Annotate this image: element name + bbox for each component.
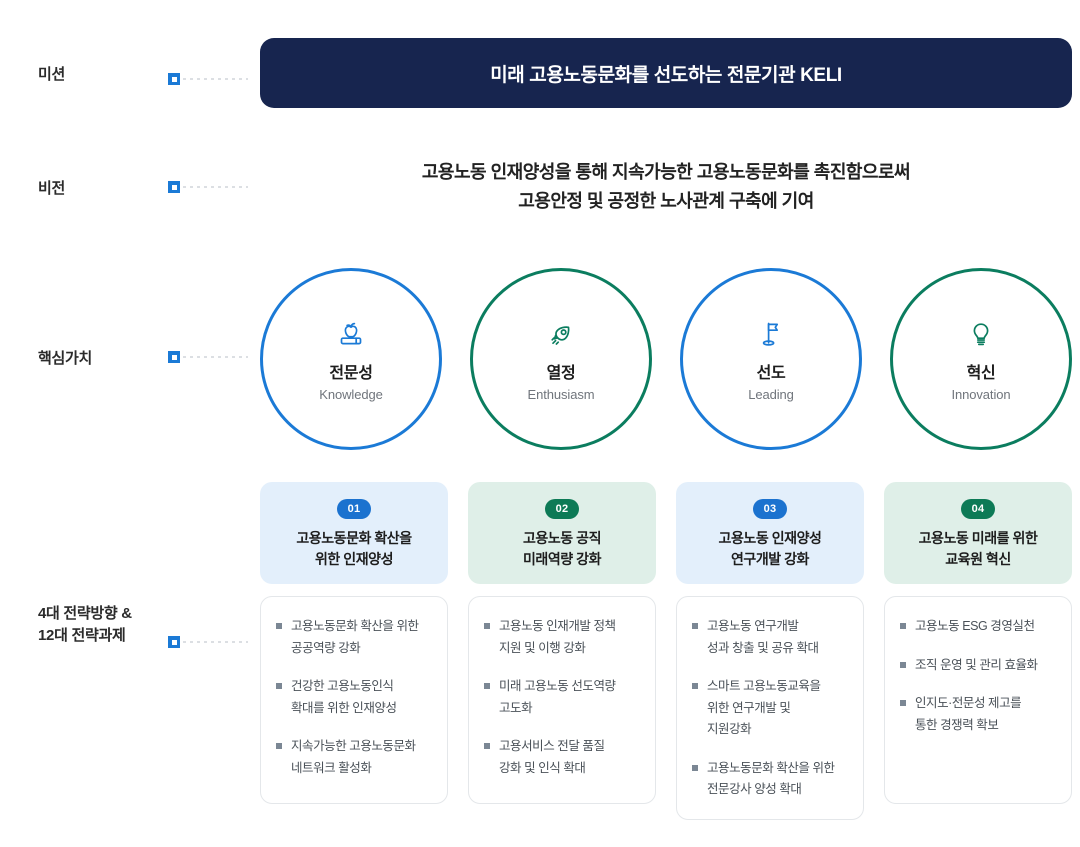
core-value-title-en: Leading bbox=[748, 387, 794, 402]
task-text: 고용노동문화 확산을 위한 공공역량 강화 bbox=[291, 616, 419, 659]
strategy-badge-02: 02 bbox=[545, 499, 579, 519]
bullet-icon bbox=[692, 623, 698, 629]
core-value-leading: 선도 Leading bbox=[680, 268, 862, 450]
strategy-tasks-02: 고용노동 인재개발 정책 지원 및 이행 강화 미래 고용노동 선도역량 고도화… bbox=[468, 596, 656, 804]
square-marker-icon bbox=[168, 181, 180, 193]
rail-label-mission: 미션 bbox=[38, 64, 65, 86]
task-text: 미래 고용노동 선도역량 고도화 bbox=[499, 676, 616, 719]
strategy-title-04: 고용노동 미래를 위한 교육원 혁신 bbox=[919, 528, 1038, 570]
dotted-line bbox=[183, 186, 248, 188]
dotted-line bbox=[183, 78, 248, 80]
rocket-icon bbox=[546, 316, 576, 350]
bullet-icon bbox=[692, 683, 698, 689]
strategy-title-01: 고용노동문화 확산을 위한 인재양성 bbox=[296, 528, 411, 570]
bullet-icon bbox=[484, 683, 490, 689]
connector-vision bbox=[168, 181, 248, 193]
vision-text: 고용노동 인재양성을 통해 지속가능한 고용노동문화를 촉진함으로써 고용안정 … bbox=[260, 158, 1072, 216]
strategy-column-01: 01 고용노동문화 확산을 위한 인재양성 고용노동문화 확산을 위한 공공역량… bbox=[260, 482, 448, 820]
bullet-icon bbox=[900, 662, 906, 668]
strategy-header-04[interactable]: 04 고용노동 미래를 위한 교육원 혁신 bbox=[884, 482, 1072, 584]
strategy-map: 미션 비전 핵심가치 4대 전략방향 & 12대 전략과제 미래 고용노동문화를… bbox=[0, 0, 1080, 847]
core-values-row: 전문성 Knowledge 열정 Enthusiasm bbox=[260, 268, 1072, 450]
mission-text: 미래 고용노동문화를 선도하는 전문기관 KELI bbox=[490, 60, 842, 87]
core-value-title-ko: 혁신 bbox=[967, 359, 996, 383]
core-value-enthusiasm: 열정 Enthusiasm bbox=[470, 268, 652, 450]
rail-label-strategies: 4대 전략방향 & 12대 전략과제 bbox=[38, 603, 132, 647]
task-text: 조직 운영 및 관리 효율화 bbox=[915, 655, 1038, 677]
strategy-badge-04: 04 bbox=[961, 499, 995, 519]
strategy-header-02[interactable]: 02 고용노동 공직 미래역량 강화 bbox=[468, 482, 656, 584]
task-item: 고용서비스 전달 품질 강화 및 인식 확대 bbox=[484, 736, 639, 779]
square-marker-icon bbox=[168, 351, 180, 363]
task-text: 고용서비스 전달 품질 강화 및 인식 확대 bbox=[499, 736, 605, 779]
strategy-tasks-01: 고용노동문화 확산을 위한 공공역량 강화 건강한 고용노동인식 확대를 위한 … bbox=[260, 596, 448, 804]
core-value-title-ko: 전문성 bbox=[329, 359, 372, 383]
strategy-tasks-04: 고용노동 ESG 경영실천 조직 운영 및 관리 효율화 인지도·전문성 제고를… bbox=[884, 596, 1072, 804]
core-value-title-ko: 선도 bbox=[757, 359, 786, 383]
task-item: 고용노동 ESG 경영실천 bbox=[900, 616, 1055, 638]
task-text: 고용노동 인재개발 정책 지원 및 이행 강화 bbox=[499, 616, 616, 659]
task-item: 고용노동 연구개발 성과 창출 및 공유 확대 bbox=[692, 616, 847, 659]
strategy-badge-03: 03 bbox=[753, 499, 787, 519]
task-text: 스마트 고용노동교육을 위한 연구개발 및 지원강화 bbox=[707, 676, 821, 741]
mission-banner: 미래 고용노동문화를 선도하는 전문기관 KELI bbox=[260, 38, 1072, 108]
task-item: 지속가능한 고용노동문화 네트워크 활성화 bbox=[276, 736, 431, 779]
task-text: 지속가능한 고용노동문화 네트워크 활성화 bbox=[291, 736, 416, 779]
core-value-title-ko: 열정 bbox=[547, 359, 576, 383]
flag-icon bbox=[756, 316, 786, 350]
core-value-knowledge: 전문성 Knowledge bbox=[260, 268, 442, 450]
bullet-icon bbox=[276, 743, 282, 749]
bullet-icon bbox=[900, 700, 906, 706]
bullet-icon bbox=[900, 623, 906, 629]
task-item: 고용노동 인재개발 정책 지원 및 이행 강화 bbox=[484, 616, 639, 659]
core-value-title-en: Enthusiasm bbox=[528, 387, 595, 402]
task-text: 건강한 고용노동인식 확대를 위한 인재양성 bbox=[291, 676, 397, 719]
strategy-title-03: 고용노동 인재양성 연구개발 강화 bbox=[719, 528, 822, 570]
task-item: 미래 고용노동 선도역량 고도화 bbox=[484, 676, 639, 719]
connector-mission bbox=[168, 73, 248, 85]
rail-label-vision: 비전 bbox=[38, 178, 65, 200]
rail-label-core-values: 핵심가치 bbox=[38, 348, 92, 370]
strategy-header-03[interactable]: 03 고용노동 인재양성 연구개발 강화 bbox=[676, 482, 864, 584]
bullet-icon bbox=[692, 765, 698, 771]
task-item: 인지도·전문성 제고를 통한 경쟁력 확보 bbox=[900, 693, 1055, 736]
task-text: 고용노동문화 확산을 위한 전문강사 양성 확대 bbox=[707, 758, 835, 801]
dotted-line bbox=[183, 356, 248, 358]
square-marker-icon bbox=[168, 73, 180, 85]
strategy-columns: 01 고용노동문화 확산을 위한 인재양성 고용노동문화 확산을 위한 공공역량… bbox=[260, 482, 1072, 820]
square-marker-icon bbox=[168, 636, 180, 648]
core-value-innovation: 혁신 Innovation bbox=[890, 268, 1072, 450]
strategy-column-02: 02 고용노동 공직 미래역량 강화 고용노동 인재개발 정책 지원 및 이행 … bbox=[468, 482, 656, 820]
apple-on-book-icon bbox=[336, 316, 366, 350]
bullet-icon bbox=[484, 623, 490, 629]
task-text: 고용노동 연구개발 성과 창출 및 공유 확대 bbox=[707, 616, 819, 659]
bullet-icon bbox=[276, 683, 282, 689]
connector-strategies bbox=[168, 636, 248, 648]
core-value-title-en: Knowledge bbox=[319, 387, 382, 402]
lightbulb-icon bbox=[966, 316, 996, 350]
strategy-badge-01: 01 bbox=[337, 499, 371, 519]
bullet-icon bbox=[276, 623, 282, 629]
strategy-column-04: 04 고용노동 미래를 위한 교육원 혁신 고용노동 ESG 경영실천 조직 운… bbox=[884, 482, 1072, 820]
task-text: 인지도·전문성 제고를 통한 경쟁력 확보 bbox=[915, 693, 1021, 736]
strategy-tasks-03: 고용노동 연구개발 성과 창출 및 공유 확대 스마트 고용노동교육을 위한 연… bbox=[676, 596, 864, 820]
core-value-title-en: Innovation bbox=[952, 387, 1011, 402]
strategy-header-01[interactable]: 01 고용노동문화 확산을 위한 인재양성 bbox=[260, 482, 448, 584]
strategy-title-02: 고용노동 공직 미래역량 강화 bbox=[523, 528, 601, 570]
task-item: 건강한 고용노동인식 확대를 위한 인재양성 bbox=[276, 676, 431, 719]
task-item: 조직 운영 및 관리 효율화 bbox=[900, 655, 1055, 677]
task-item: 고용노동문화 확산을 위한 전문강사 양성 확대 bbox=[692, 758, 847, 801]
dotted-line bbox=[183, 641, 248, 643]
task-item: 스마트 고용노동교육을 위한 연구개발 및 지원강화 bbox=[692, 676, 847, 741]
connector-core-values bbox=[168, 351, 248, 363]
task-text: 고용노동 ESG 경영실천 bbox=[915, 616, 1035, 638]
strategy-column-03: 03 고용노동 인재양성 연구개발 강화 고용노동 연구개발 성과 창출 및 공… bbox=[676, 482, 864, 820]
bullet-icon bbox=[484, 743, 490, 749]
task-item: 고용노동문화 확산을 위한 공공역량 강화 bbox=[276, 616, 431, 659]
